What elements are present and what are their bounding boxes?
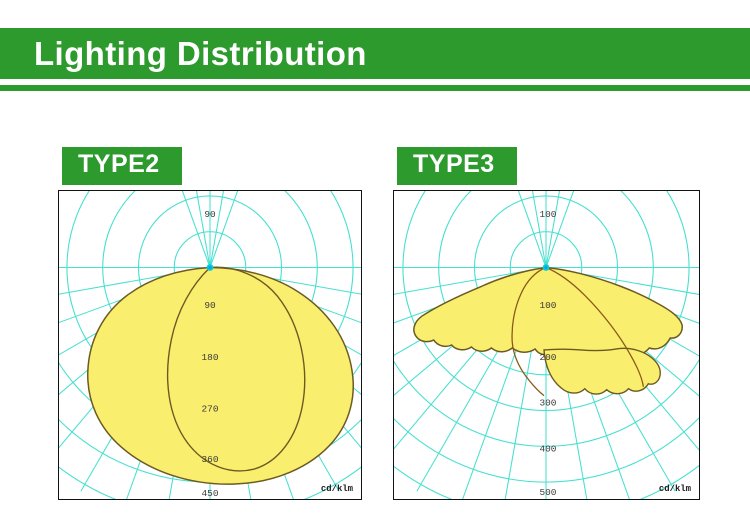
polar-chart-type3: 100 100 200 300 400 500 cd/klm xyxy=(393,190,700,500)
distribution-fill-c0-type2 xyxy=(88,268,353,485)
radial-tick-labels-type3: 100 100 200 300 400 500 xyxy=(540,209,557,498)
radial-tick-0: 90 xyxy=(204,209,216,220)
radial-tick-3: 300 xyxy=(540,398,557,409)
polar-chart-type3-canvas: 100 100 200 300 400 500 cd/klm xyxy=(394,191,699,499)
radial-tick-4: 400 xyxy=(540,443,557,454)
distribution-fill-c0-type3 xyxy=(414,268,682,359)
radial-tick-1: 90 xyxy=(204,300,216,311)
radial-tick-2: 180 xyxy=(202,352,219,363)
distribution-panel-type3: TYPE3 xyxy=(393,147,517,185)
radial-tick-3: 270 xyxy=(202,404,219,415)
distribution-panel-type2: TYPE2 xyxy=(58,147,182,185)
radial-tick-4: 360 xyxy=(202,454,219,465)
header-divider-rule xyxy=(0,85,750,91)
radial-tick-5: 500 xyxy=(540,487,557,498)
type-label-type2: TYPE2 xyxy=(62,147,182,185)
radial-tick-2: 200 xyxy=(540,352,557,363)
center-point-marker-type3 xyxy=(543,264,550,271)
polar-chart-type2: 90 90 180 270 360 450 cd/klm xyxy=(58,190,362,500)
page-header-bar: Lighting Distribution xyxy=(0,28,750,79)
type-label-type3: TYPE3 xyxy=(397,147,517,185)
distribution-lobe-lower-type3 xyxy=(544,348,660,394)
radial-tick-0: 100 xyxy=(540,209,557,220)
center-point-marker-type2 xyxy=(207,264,214,271)
radial-tick-1: 100 xyxy=(540,300,557,311)
unit-label-type2: cd/klm xyxy=(321,484,354,494)
polar-chart-type2-canvas: 90 90 180 270 360 450 cd/klm xyxy=(59,191,361,499)
page-title: Lighting Distribution xyxy=(0,37,367,70)
radial-tick-5: 450 xyxy=(202,488,219,499)
unit-label-type3: cd/klm xyxy=(659,484,692,494)
